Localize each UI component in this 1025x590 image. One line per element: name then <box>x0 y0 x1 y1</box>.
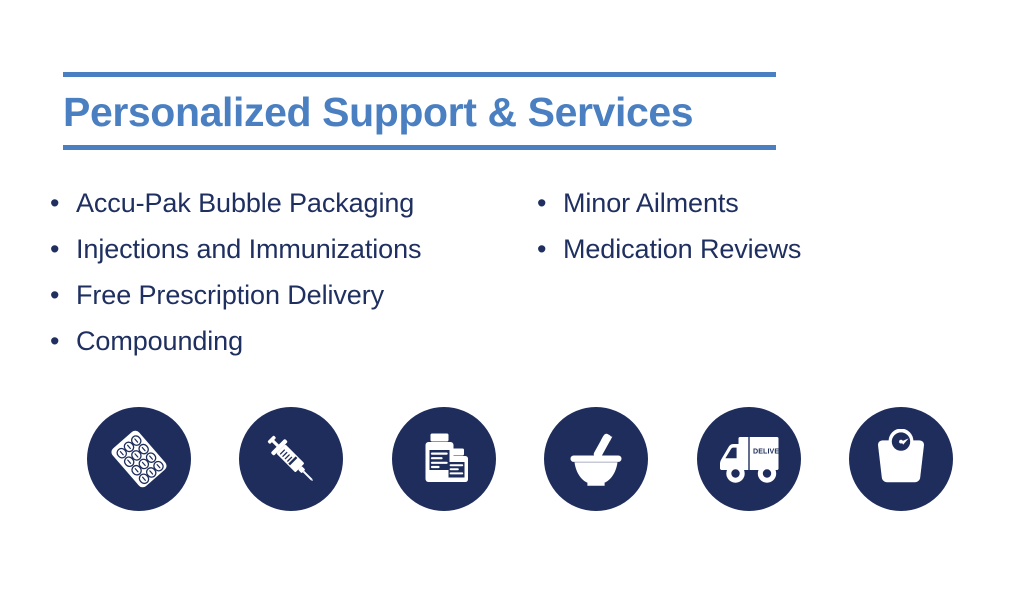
services-list-group: • Accu-Pak Bubble Packaging • Injections… <box>50 180 990 364</box>
list-item-label: Minor Ailments <box>563 180 739 226</box>
bullet-icon: • <box>50 318 76 364</box>
page-title: Personalized Support & Services <box>63 89 776 135</box>
truck-delivery-text: DELIVERY <box>753 448 782 456</box>
mortar-pestle-icon <box>564 427 628 491</box>
icon-badge-pill-bottles <box>392 407 496 511</box>
icon-badge-syringe <box>239 407 343 511</box>
services-column-right: • Minor Ailments • Medication Reviews <box>537 180 937 272</box>
icon-badge-mortar-pestle <box>544 407 648 511</box>
icon-badge-weight-scale <box>849 407 953 511</box>
list-item: • Compounding <box>50 318 537 364</box>
icon-badge-delivery-truck: DELIVERY <box>697 407 801 511</box>
delivery-truck-icon: DELIVERY <box>716 430 782 488</box>
list-item: • Medication Reviews <box>537 226 937 272</box>
bullet-icon: • <box>537 180 563 226</box>
list-item: • Free Prescription Delivery <box>50 272 537 318</box>
title-rule-top <box>63 72 776 77</box>
list-item: • Injections and Immunizations <box>50 226 537 272</box>
icon-row: DELIVERY <box>87 407 953 511</box>
weight-scale-icon <box>870 429 932 489</box>
icon-badge-blister-pack <box>87 407 191 511</box>
bullet-icon: • <box>50 272 76 318</box>
bullet-icon: • <box>50 226 76 272</box>
title-rule-bottom <box>63 145 776 150</box>
blister-pack-icon <box>108 428 170 490</box>
list-item-label: Accu-Pak Bubble Packaging <box>76 180 414 226</box>
services-column-left: • Accu-Pak Bubble Packaging • Injections… <box>50 180 537 364</box>
syringe-icon <box>259 427 323 491</box>
list-item: • Accu-Pak Bubble Packaging <box>50 180 537 226</box>
slide-canvas: Personalized Support & Services • Accu-P… <box>0 0 1025 590</box>
heading-block: Personalized Support & Services <box>63 72 776 150</box>
list-item-label: Medication Reviews <box>563 226 801 272</box>
bullet-icon: • <box>50 180 76 226</box>
list-item-label: Compounding <box>76 318 243 364</box>
list-item-label: Injections and Immunizations <box>76 226 421 272</box>
list-item: • Minor Ailments <box>537 180 937 226</box>
list-item-label: Free Prescription Delivery <box>76 272 384 318</box>
bullet-icon: • <box>537 226 563 272</box>
pill-bottles-icon <box>413 428 475 490</box>
